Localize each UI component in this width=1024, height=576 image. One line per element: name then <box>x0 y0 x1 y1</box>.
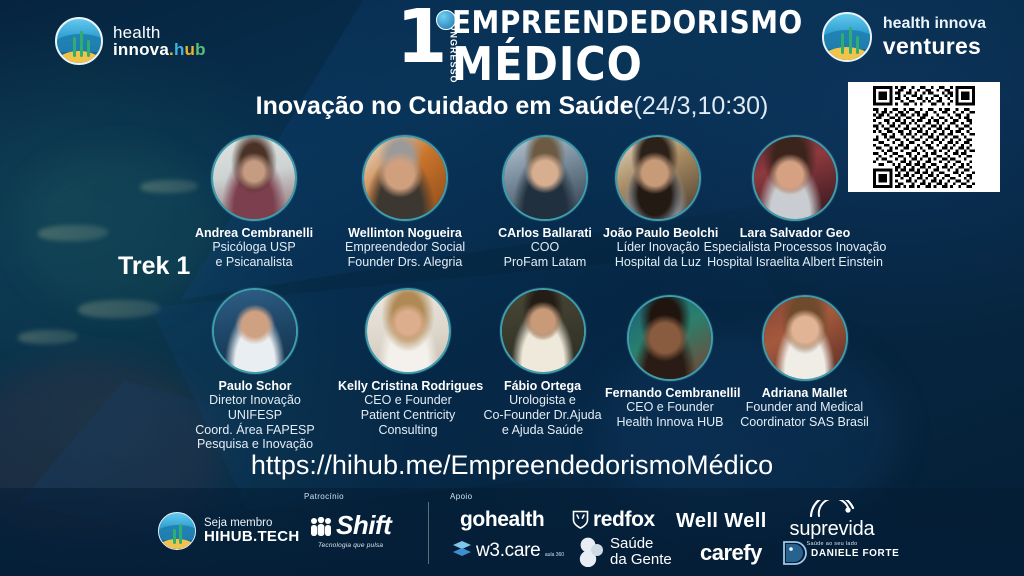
hihub-membership-logo[interactable]: Seja membro HIHUB.TECH <box>158 512 300 550</box>
speaker-card-kelly-cristina-rodrigues[interactable]: Kelly Cristina Rodrigues CEO e Founder P… <box>338 288 478 437</box>
speaker-name: Wellinton Nogueira <box>345 226 465 240</box>
speaker-role-line: Founder and Medical <box>727 400 882 415</box>
speaker-role-line: Urologista e <box>480 393 605 408</box>
membership-orb-icon <box>158 512 196 550</box>
supporter-logo-wellwell[interactable]: Well Well <box>676 510 767 533</box>
photo-carlos-ballarati <box>502 135 588 221</box>
photo-andrea-cembranelli <box>211 135 297 221</box>
speaker-card-wellinton-nogueira[interactable]: Wellinton Nogueira Empreendedor Social F… <box>345 135 465 270</box>
photo-wellinton-nogueira <box>362 135 448 221</box>
shift-tagline: Tecnologia que pulsa <box>310 542 391 549</box>
photo-fabio-ortega <box>500 288 586 374</box>
speaker-role-line: COO <box>490 240 600 255</box>
orb-sand-shape <box>158 539 196 550</box>
hub-logo-b: b <box>195 40 206 59</box>
speaker-name: Lara Salvador Geo <box>700 226 890 240</box>
speaker-role-line: Líder Inovação <box>603 240 713 255</box>
health-innova-ventures-logo[interactable]: health innova ventures <box>822 12 986 62</box>
avatar-face <box>213 137 295 219</box>
saude-line2: da Gente <box>610 552 672 568</box>
saude-line1: Saúde <box>610 536 672 552</box>
avatar-face <box>754 137 836 219</box>
speaker-role-line: e Psicanalista <box>194 255 314 270</box>
suprevida-arc-icon <box>807 500 857 517</box>
shift-name: Shift <box>336 510 391 540</box>
speaker-role-line: UNIFESP <box>195 408 315 423</box>
sponsors-footer: Patrocínio Apoio Seja membro HIHUB.TECH <box>0 488 1024 576</box>
photo-paulo-schor <box>212 288 298 374</box>
ventures-wordmark: health innova ventures <box>883 15 986 60</box>
supporter-logo-carefy[interactable]: carefy <box>700 540 762 566</box>
w3care-layers-icon <box>452 540 472 563</box>
speaker-card-paulo-schor[interactable]: Paulo Schor Diretor Inovação UNIFESP Coo… <box>195 288 315 452</box>
hub-logo-wordmark: health innova.hub <box>113 24 206 58</box>
supporter-logo-saude-da-gente[interactable]: Saúde da Gente <box>578 536 672 568</box>
orb-sand-shape <box>822 47 872 62</box>
speaker-role-line: Hospital Israelita Albert Einstein <box>700 255 890 270</box>
daniele-forte-mark-icon <box>782 540 808 566</box>
shift-mark: Shift <box>310 510 391 542</box>
speaker-name: Adriana Mallet <box>727 386 882 400</box>
health-innova-hub-logo[interactable]: health innova.hub <box>55 17 206 65</box>
avatar-face <box>502 290 584 372</box>
speaker-name: Andrea Cembranelli <box>194 226 314 240</box>
shift-people-icon <box>310 517 332 542</box>
hub-logo-u: u <box>185 40 196 59</box>
speaker-role-line: Psicóloga USP <box>194 240 314 255</box>
photo-kelly-cristina-rodrigues <box>365 288 451 374</box>
redfox-shield-glyph <box>572 510 589 529</box>
avatar-face <box>214 290 296 372</box>
orb-seaweed-icon <box>87 40 90 57</box>
speaker-card-joao-paulo-beolchi[interactable]: João Paulo Beolchi Líder Inovação Hospit… <box>603 135 713 270</box>
w3care-tagline: aula 360 <box>545 552 564 558</box>
supporter-logo-w3care[interactable]: w3.care aula 360 <box>452 540 564 563</box>
speaker-name: João Paulo Beolchi <box>603 226 713 240</box>
speaker-card-carlos-ballarati[interactable]: CArlos Ballarati COO ProFam Latam <box>490 135 600 270</box>
speaker-role-line: Founder Drs. Alegria <box>345 255 465 270</box>
avatar-face <box>764 297 846 379</box>
orb-seaweed-icon <box>80 31 83 57</box>
orb-sand-shape <box>55 51 103 65</box>
speaker-name: Paulo Schor <box>195 379 315 393</box>
shift-people-glyph <box>310 517 332 537</box>
membership-line2: HIHUB.TECH <box>204 529 300 546</box>
event-title-line1: EMPREENDEDORISMO <box>452 8 803 39</box>
photo-joao-paulo-beolchi <box>615 135 701 221</box>
supporter-logo-gohealth[interactable]: gohealth <box>460 508 544 532</box>
speaker-role-line: CEO e Founder <box>338 393 478 408</box>
saude-da-gente-figure-icon <box>578 537 604 567</box>
avatar-face <box>367 290 449 372</box>
speaker-role-line: ProFam Latam <box>490 255 600 270</box>
speaker-card-adriana-mallet[interactable]: Adriana Mallet Founder and Medical Coord… <box>727 295 882 430</box>
event-title-line2: MÉDICO <box>452 41 803 88</box>
speaker-name: Fernando Cembranellil <box>605 386 735 400</box>
orb-seaweed-icon <box>173 529 176 544</box>
event-datetime: (24/3,10:30) <box>634 92 769 120</box>
ventures-line2: ventures <box>883 33 986 60</box>
w3care-name: w3.care <box>476 540 540 561</box>
background-fish <box>78 300 160 318</box>
background-fish <box>18 330 78 344</box>
footer-divider <box>428 502 429 564</box>
speaker-role-line: Coord. Área FAPESP <box>195 423 315 438</box>
hub-logo-h: h <box>174 40 185 59</box>
speaker-name: Fábio Ortega <box>480 379 605 393</box>
hub-logo-orb-icon <box>55 17 103 65</box>
speaker-role-line: Patient Centricity <box>338 408 478 423</box>
orb-seaweed-icon <box>179 524 182 544</box>
ventures-logo-orb-icon <box>822 12 872 62</box>
orb-seaweed-icon <box>849 27 852 54</box>
w3care-layers-glyph <box>452 540 472 558</box>
speaker-card-andrea-cembranelli[interactable]: Andrea Cembranelli Psicóloga USP e Psica… <box>194 135 314 270</box>
redfox-name: redfox <box>593 508 655 531</box>
speaker-role-line: Co-Founder Dr.Ajuda <box>480 408 605 423</box>
hub-logo-line2: innova.hub <box>113 41 206 58</box>
redfox-shield-icon <box>572 510 589 534</box>
speaker-name: Kelly Cristina Rodrigues <box>338 379 478 393</box>
speaker-card-lara-salvador-geo[interactable]: Lara Salvador Geo Especialista Processos… <box>700 135 890 270</box>
speaker-role-line: Consulting <box>338 423 478 438</box>
avatar-face <box>629 297 711 379</box>
event-subtitle: Inovação no Cuidado em Saúde <box>256 92 634 120</box>
speaker-role-line: e Ajuda Saúde <box>480 423 605 438</box>
orb-hill-shape <box>55 34 103 52</box>
support-section-label: Apoio <box>450 492 472 501</box>
speaker-role-line: CEO e Founder <box>605 400 735 415</box>
track-label: Trek 1 <box>118 252 190 281</box>
photo-adriana-mallet <box>762 295 848 381</box>
membership-wordmark: Seja membro HIHUB.TECH <box>204 517 300 546</box>
avatar-face <box>504 137 586 219</box>
supporter-logo-redfox[interactable]: redfox <box>572 508 655 534</box>
daniele-forte-name: DANIELE FORTE <box>811 548 899 559</box>
photo-fernando-cembranelli <box>627 295 713 381</box>
sponsor-logo-shift[interactable]: Shift Tecnologia que pulsa <box>310 510 391 549</box>
speaker-role-line: Empreendedor Social <box>345 240 465 255</box>
event-url[interactable]: https://hihub.me/EmpreendedorismoMédico <box>0 450 1024 481</box>
orb-seaweed-icon <box>856 36 859 54</box>
speaker-role-line: Coordinator SAS Brasil <box>727 415 882 430</box>
background-fish <box>38 225 108 241</box>
speaker-name: CArlos Ballarati <box>490 226 600 240</box>
ventures-line1: health innova <box>883 15 986 33</box>
event-poster: health innova.hub 1 CONGRESSO EMPREENDED… <box>0 0 1024 576</box>
speaker-card-fernando-cembranelli[interactable]: Fernando Cembranellil CEO e Founder Heal… <box>605 295 735 430</box>
speaker-card-fabio-ortega[interactable]: Fábio Ortega Urologista e Co-Founder Dr.… <box>480 288 605 437</box>
orb-seaweed-icon <box>73 37 76 57</box>
suprevida-name: suprevida <box>782 518 882 541</box>
orb-seaweed-icon <box>841 33 844 54</box>
supporter-logo-daniele-forte[interactable]: DANIELE FORTE <box>782 540 899 566</box>
hub-logo-innova: innova <box>113 40 169 59</box>
speaker-role-line: Health Innova HUB <box>605 415 735 430</box>
background-fish <box>140 180 198 193</box>
photo-lara-salvador-geo <box>752 135 838 221</box>
sponsor-section-label: Patrocínio <box>304 492 344 501</box>
speaker-role-line: Diretor Inovação <box>195 393 315 408</box>
membership-line1: Seja membro <box>204 517 300 529</box>
event-title: EMPREENDEDORISMO MÉDICO <box>452 8 803 88</box>
orb-hill-shape <box>822 30 872 49</box>
saude-da-gente-wordmark: Saúde da Gente <box>610 536 672 568</box>
speaker-role-line: Especialista Processos Inovação <box>700 240 890 255</box>
hub-logo-line1: health <box>113 24 206 41</box>
speaker-role-line: Hospital da Luz <box>603 255 713 270</box>
avatar-face <box>617 137 699 219</box>
avatar-face <box>364 137 446 219</box>
